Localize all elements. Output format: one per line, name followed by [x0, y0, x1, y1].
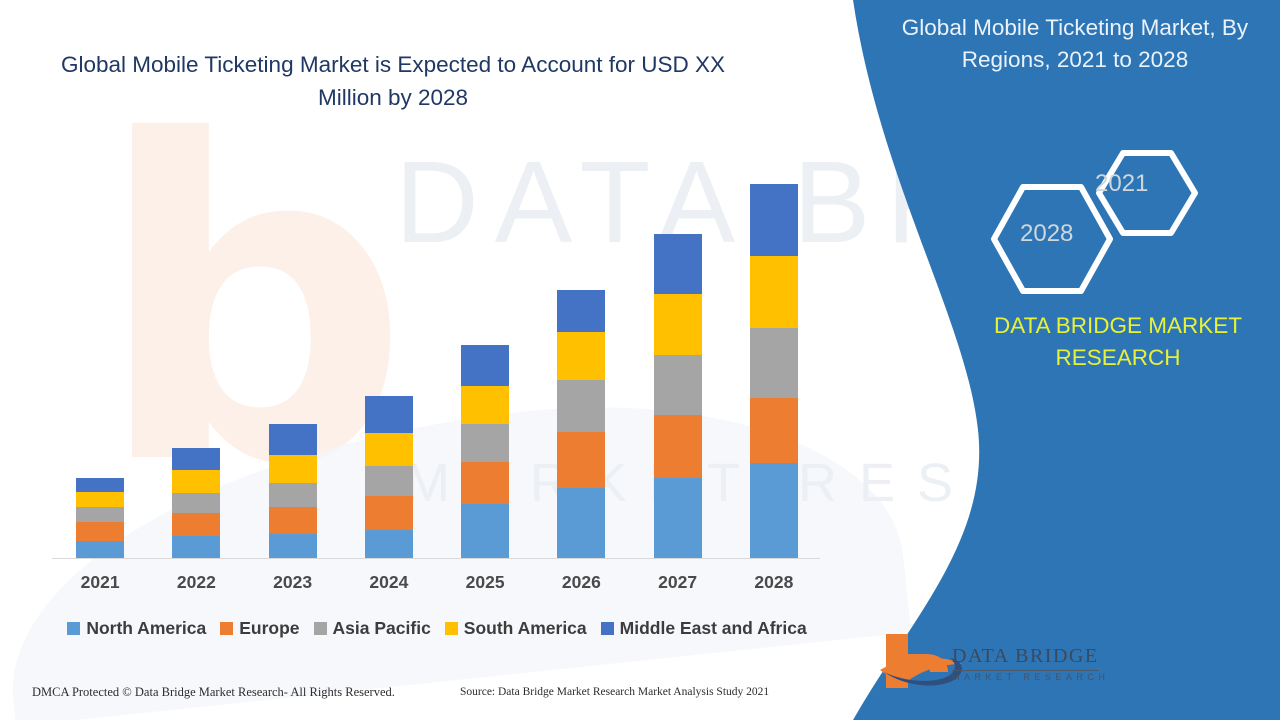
hexagon-label-2028: 2028 [1020, 220, 1073, 248]
bar-segment [76, 541, 124, 558]
x-axis-tick-label: 2027 [654, 572, 702, 600]
bar-segment [557, 380, 605, 432]
bar-segment [269, 483, 317, 507]
bar-segment [461, 345, 509, 386]
chart-title: Global Mobile Ticketing Market is Expect… [28, 48, 758, 114]
legend-label: North America [86, 618, 206, 639]
legend-item[interactable]: Asia Pacific [314, 618, 431, 639]
bar-2021 [76, 478, 124, 558]
legend-swatch-icon [314, 622, 327, 635]
bar-segment [365, 433, 413, 466]
bar-segment [269, 507, 317, 534]
bar-segment [750, 398, 798, 463]
bar-segment [172, 448, 220, 470]
bar-segment [172, 493, 220, 513]
legend-label: Asia Pacific [333, 618, 431, 639]
bar-segment [557, 332, 605, 380]
legend-swatch-icon [67, 622, 80, 635]
bar-2028 [750, 184, 798, 558]
legend-item[interactable]: Europe [220, 618, 299, 639]
legend-item[interactable]: North America [67, 618, 206, 639]
bar-segment [76, 507, 124, 522]
bar-segment [557, 432, 605, 488]
logo-wordmark: DATA BRIDGE [952, 645, 1099, 671]
x-axis-tick-label: 2023 [269, 572, 317, 600]
source-text: Source: Data Bridge Market Research Mark… [460, 686, 769, 698]
bar-segment [654, 355, 702, 415]
bar-segment [76, 522, 124, 541]
bar-segment [461, 462, 509, 504]
bar-segment [654, 478, 702, 558]
bar-segment [365, 466, 413, 496]
bar-segment [269, 455, 317, 483]
bar-segment [654, 294, 702, 355]
legend-swatch-icon [445, 622, 458, 635]
copyright-text: DMCA Protected © Data Bridge Market Rese… [32, 685, 395, 700]
bar-2022 [172, 448, 220, 558]
bar-segment [557, 290, 605, 332]
hexagon-graphic [975, 145, 1205, 295]
panel-title: Global Mobile Ticketing Market, By Regio… [880, 12, 1270, 76]
legend-label: Middle East and Africa [620, 618, 807, 639]
bar-segment [365, 396, 413, 433]
legend-swatch-icon [220, 622, 233, 635]
bar-2024 [365, 396, 413, 558]
x-axis-tick-label: 2026 [557, 572, 605, 600]
brand-name-text: DATA BRIDGE MARKET RESEARCH [968, 310, 1268, 374]
x-axis-line [52, 558, 820, 559]
bar-segment [461, 386, 509, 424]
bar-segment [461, 504, 509, 558]
bar-segment [750, 184, 798, 256]
bar-segment [750, 328, 798, 398]
bar-2027 [654, 234, 702, 558]
chart-legend: North AmericaEuropeAsia PacificSouth Ame… [52, 615, 822, 641]
legend-item[interactable]: South America [445, 618, 587, 639]
legend-label: Europe [239, 618, 299, 639]
bar-2023 [269, 424, 317, 558]
infographic-canvas: b DATA BRIDGE MARKET RESEARCH Global Mob… [0, 0, 1280, 720]
bar-segment [172, 470, 220, 493]
x-axis-tick-label: 2022 [172, 572, 220, 600]
legend-label: South America [464, 618, 587, 639]
x-axis-tick-label: 2025 [461, 572, 509, 600]
bar-2025 [461, 345, 509, 558]
bar-segment [269, 534, 317, 558]
bar-segment [654, 234, 702, 294]
x-axis-labels: 20212022202320242025202620272028 [52, 572, 822, 600]
bar-segment [365, 496, 413, 530]
bar-segment [654, 415, 702, 478]
bar-segment [172, 513, 220, 536]
hexagon-label-2021: 2021 [1095, 170, 1148, 198]
bar-segment [76, 492, 124, 507]
bar-2026 [557, 290, 605, 558]
bar-segment [76, 478, 124, 492]
bar-segment [557, 488, 605, 558]
bar-segment [750, 463, 798, 558]
legend-item[interactable]: Middle East and Africa [601, 618, 807, 639]
stacked-bar-series [52, 158, 822, 558]
bar-segment [750, 256, 798, 328]
bar-segment [269, 424, 317, 455]
logo-tagline: MARKET RESEARCH [952, 672, 1109, 682]
x-axis-tick-label: 2021 [76, 572, 124, 600]
bar-segment [172, 536, 220, 558]
x-axis-tick-label: 2024 [365, 572, 413, 600]
legend-swatch-icon [601, 622, 614, 635]
bar-segment [461, 424, 509, 462]
x-axis-tick-label: 2028 [750, 572, 798, 600]
bar-segment [365, 530, 413, 558]
